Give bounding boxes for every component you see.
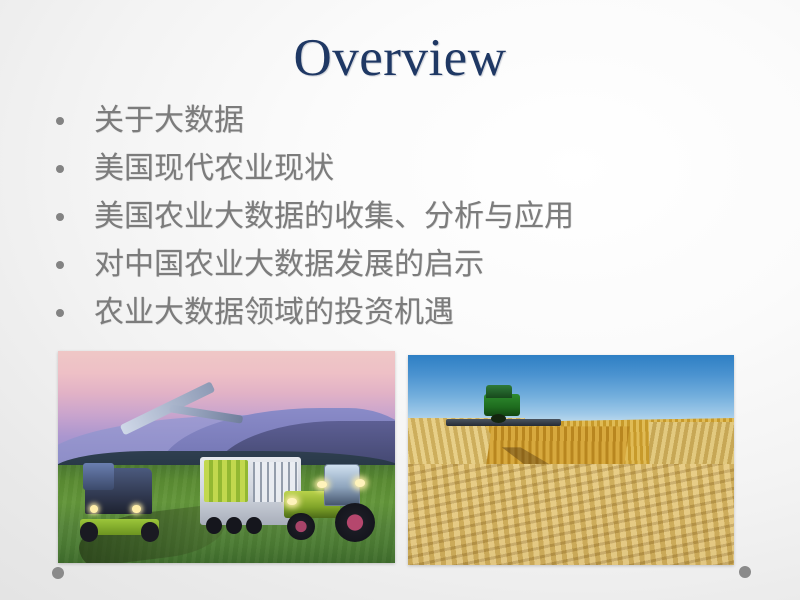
combine-wheel xyxy=(491,414,506,423)
bullet-item: 农业大数据领域的投资机遇 xyxy=(44,290,764,335)
bullet-item: 美国农业大数据的收集、分析与应用 xyxy=(44,194,764,239)
blue-sky xyxy=(408,355,734,422)
presentation-slide: Overview 关于大数据 美国现代农业现状 美国农业大数据的收集、分析与应用… xyxy=(0,0,800,600)
bullet-marker-icon xyxy=(56,309,64,317)
slide-title: Overview xyxy=(0,28,800,88)
photo-canvas xyxy=(58,351,395,563)
bullet-marker-icon xyxy=(56,165,64,173)
bullet-item: 美国现代农业现状 xyxy=(44,146,764,191)
trailer-crop-load xyxy=(204,460,248,502)
bullet-item-label: 美国现代农业现状 xyxy=(94,151,334,186)
forage-harvester-vehicle xyxy=(78,461,162,542)
tractor-vehicle xyxy=(284,457,375,542)
combine-harvester-vehicle xyxy=(473,384,532,426)
headlight-icon xyxy=(317,481,327,489)
bullet-item-label: 美国农业大数据的收集、分析与应用 xyxy=(94,199,574,234)
decorative-dot-right-icon xyxy=(739,566,751,578)
tractor-rear-wheel xyxy=(335,503,375,542)
decorative-dot-left-icon xyxy=(52,567,64,579)
combine-cab xyxy=(486,385,512,398)
wheat-stubble-foreground xyxy=(408,464,734,565)
headlight-icon xyxy=(355,479,365,487)
headlight-icon xyxy=(132,505,140,513)
forage-harvester-at-dusk-photo xyxy=(58,351,395,563)
bullet-item-label: 关于大数据 xyxy=(94,103,244,138)
bullet-marker-icon xyxy=(56,261,64,269)
bullet-marker-icon xyxy=(56,213,64,221)
harvester-wheel xyxy=(141,522,160,541)
tractor-front-wheel xyxy=(287,513,314,540)
bullet-marker-icon xyxy=(56,117,64,125)
bullet-item: 关于大数据 xyxy=(44,98,764,143)
photo-canvas xyxy=(408,355,734,565)
bullet-item-label: 对中国农业大数据发展的启示 xyxy=(94,247,484,282)
combine-harvester-wheat-field-photo xyxy=(408,355,734,565)
trailer-wheel xyxy=(206,517,222,535)
harvester-wheel xyxy=(80,522,99,541)
trailer-wheel xyxy=(226,517,242,535)
bullet-list: 关于大数据 美国现代农业现状 美国农业大数据的收集、分析与应用 对中国农业大数据… xyxy=(44,98,764,338)
bullet-item-label: 农业大数据领域的投资机遇 xyxy=(94,295,454,330)
bullet-item: 对中国农业大数据发展的启示 xyxy=(44,242,764,287)
harvester-cab xyxy=(83,463,113,490)
